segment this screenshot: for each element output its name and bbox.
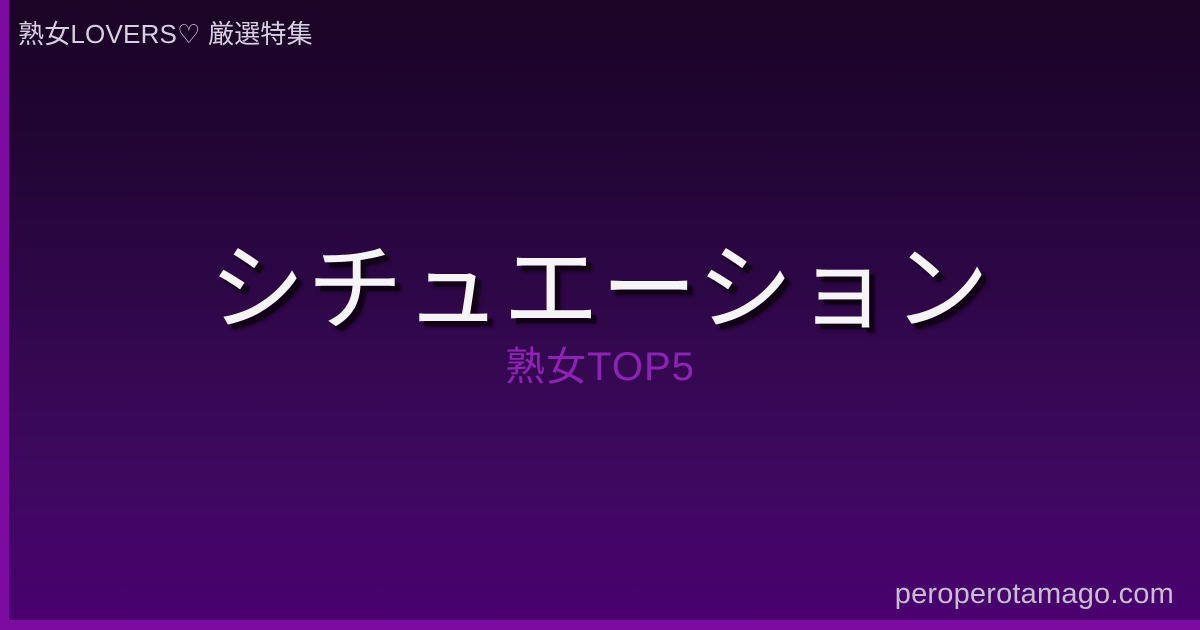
bottom-accent-bar [0,620,1200,630]
promo-banner: 熟女LOVERS♡ 厳選特集 シチュエーション 熟女TOP5 peroperot… [0,0,1200,630]
site-watermark: peroperotamago.com [895,577,1174,611]
title-stage: シチュエーション 熟女TOP5 [0,0,1200,630]
page-subtitle: 熟女TOP5 [505,346,695,388]
page-title: シチュエーション [209,242,991,338]
